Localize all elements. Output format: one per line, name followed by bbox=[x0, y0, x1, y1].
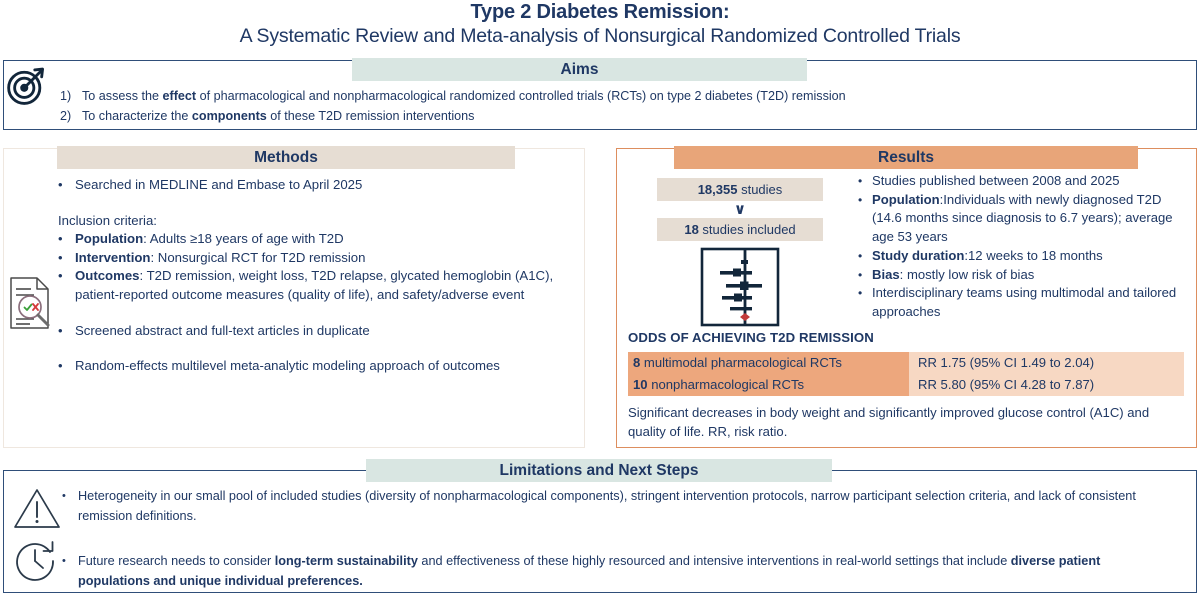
methods-criteria-outcomes: • Outcomes: T2D remission, weight loss, … bbox=[58, 267, 558, 304]
bullet-dot-icon: • bbox=[58, 357, 75, 376]
results-bullet-teams-text: Interdisciplinary teams using multimodal… bbox=[872, 284, 1188, 321]
clock-refresh-icon bbox=[12, 538, 58, 584]
bullet-dot-icon: • bbox=[58, 267, 75, 304]
bullet-dot-icon: • bbox=[858, 266, 872, 285]
target-dart-icon bbox=[5, 64, 49, 108]
odds-row-2-value: RR 5.80 (95% CI 4.28 to 7.87) bbox=[909, 374, 1184, 396]
odds-table-title: ODDS OF ACHIEVING T2D REMISSION bbox=[628, 330, 874, 345]
bullet-dot-icon: • bbox=[62, 487, 78, 526]
results-bullet-years-text: Studies published between 2008 and 2025 bbox=[872, 172, 1188, 191]
bullet-dot-icon: • bbox=[58, 249, 75, 268]
methods-criteria-population: • Population: Adults ≥18 years of age wi… bbox=[58, 230, 558, 249]
aims-heading: Aims bbox=[352, 58, 807, 81]
aims-list: 1) To assess the effect of pharmacologic… bbox=[60, 87, 1160, 127]
page-title: Type 2 Diabetes Remission: A Systematic … bbox=[0, 0, 1200, 49]
methods-criteria-intervention-text: Intervention: Nonsurgical RCT for T2D re… bbox=[75, 249, 558, 268]
bullet-dot-icon: • bbox=[58, 230, 75, 249]
study-flow-diagram: 18,355 studies ∨ 18 studies included bbox=[657, 178, 823, 327]
methods-bullet-model: • Random-effects multilevel meta-analyti… bbox=[58, 357, 558, 376]
aims-item-2: 2) To characterize the components of the… bbox=[60, 107, 1160, 126]
results-bullet-duration: • Study duration:12 weeks to 18 months bbox=[858, 247, 1188, 266]
results-bullet-teams: • Interdisciplinary teams using multimod… bbox=[858, 284, 1188, 321]
results-bullets: • Studies published between 2008 and 202… bbox=[858, 172, 1188, 322]
odds-row-1-value: RR 1.75 (95% CI 1.49 to 2.04) bbox=[909, 352, 1184, 374]
results-heading: Results bbox=[674, 146, 1138, 169]
methods-body: • Searched in MEDLINE and Embase to Apri… bbox=[58, 176, 558, 376]
results-bullet-population-text: Population:Individuals with newly diagno… bbox=[872, 191, 1188, 247]
aims-item-1: 1) To assess the effect of pharmacologic… bbox=[60, 87, 1160, 106]
studies-included-box: 18 studies included bbox=[657, 218, 823, 241]
aims-item-2-text: To characterize the components of these … bbox=[82, 107, 474, 126]
results-footnote: Significant decreases in body weight and… bbox=[628, 404, 1168, 441]
aims-item-1-text: To assess the effect of pharmacological … bbox=[82, 87, 846, 106]
table-row: 10 nonpharmacological RCTs RR 5.80 (95% … bbox=[628, 374, 1184, 396]
results-bullet-bias: • Bias: mostly low risk of bias bbox=[858, 266, 1188, 285]
studies-screened-box: 18,355 studies bbox=[657, 178, 823, 201]
warning-triangle-icon bbox=[12, 486, 62, 530]
bullet-dot-icon: • bbox=[62, 552, 78, 591]
bullet-dot-icon: • bbox=[58, 322, 75, 341]
methods-model-text: Random-effects multilevel meta-analytic … bbox=[75, 357, 558, 376]
bullet-dot-icon: • bbox=[858, 172, 872, 191]
limitations-body: • Heterogeneity in our small pool of inc… bbox=[62, 487, 1172, 591]
limitations-item-1-text: Heterogeneity in our small pool of inclu… bbox=[78, 487, 1172, 526]
methods-bullet-search: • Searched in MEDLINE and Embase to Apri… bbox=[58, 176, 558, 195]
results-bullet-years: • Studies published between 2008 and 202… bbox=[858, 172, 1188, 191]
title-line-1: Type 2 Diabetes Remission: bbox=[0, 1, 1200, 23]
results-bullet-bias-text: Bias: mostly low risk of bias bbox=[872, 266, 1188, 285]
bullet-dot-icon: • bbox=[858, 191, 872, 247]
document-magnifier-icon bbox=[6, 275, 54, 331]
results-bullet-duration-text: Study duration:12 weeks to 18 months bbox=[872, 247, 1188, 266]
limitations-item-2-text: Future research needs to consider long-t… bbox=[78, 552, 1172, 591]
methods-criteria-intervention: • Intervention: Nonsurgical RCT for T2D … bbox=[58, 249, 558, 268]
aims-item-1-number: 1) bbox=[60, 87, 82, 106]
limitations-item-2: • Future research needs to consider long… bbox=[62, 552, 1172, 591]
limitations-heading: Limitations and Next Steps bbox=[366, 459, 832, 482]
bullet-dot-icon: • bbox=[858, 247, 872, 266]
chevron-down-icon: ∨ bbox=[657, 201, 823, 218]
title-line-2: A Systematic Review and Meta-analysis of… bbox=[0, 23, 1200, 49]
forest-plot-icon bbox=[700, 247, 780, 327]
methods-search-text: Searched in MEDLINE and Embase to April … bbox=[75, 176, 558, 195]
limitations-item-1: • Heterogeneity in our small pool of inc… bbox=[62, 487, 1172, 526]
results-bullet-population: • Population:Individuals with newly diag… bbox=[858, 191, 1188, 247]
methods-criteria-outcomes-text: Outcomes: T2D remission, weight loss, T2… bbox=[75, 267, 558, 304]
methods-heading: Methods bbox=[57, 146, 515, 169]
bullet-dot-icon: • bbox=[858, 284, 872, 321]
odds-row-1-label: 8 multimodal pharmacological RCTs bbox=[628, 352, 909, 374]
odds-row-2-label: 10 nonpharmacological RCTs bbox=[628, 374, 909, 396]
methods-bullet-screened: • Screened abstract and full-text articl… bbox=[58, 322, 558, 341]
table-row: 8 multimodal pharmacological RCTs RR 1.7… bbox=[628, 352, 1184, 374]
odds-table: 8 multimodal pharmacological RCTs RR 1.7… bbox=[628, 352, 1184, 396]
methods-screened-text: Screened abstract and full-text articles… bbox=[75, 322, 558, 341]
bullet-dot-icon: • bbox=[58, 176, 75, 195]
aims-item-2-number: 2) bbox=[60, 107, 82, 126]
methods-criteria-label: Inclusion criteria: bbox=[58, 212, 558, 231]
methods-criteria-population-text: Population: Adults ≥18 years of age with… bbox=[75, 230, 558, 249]
